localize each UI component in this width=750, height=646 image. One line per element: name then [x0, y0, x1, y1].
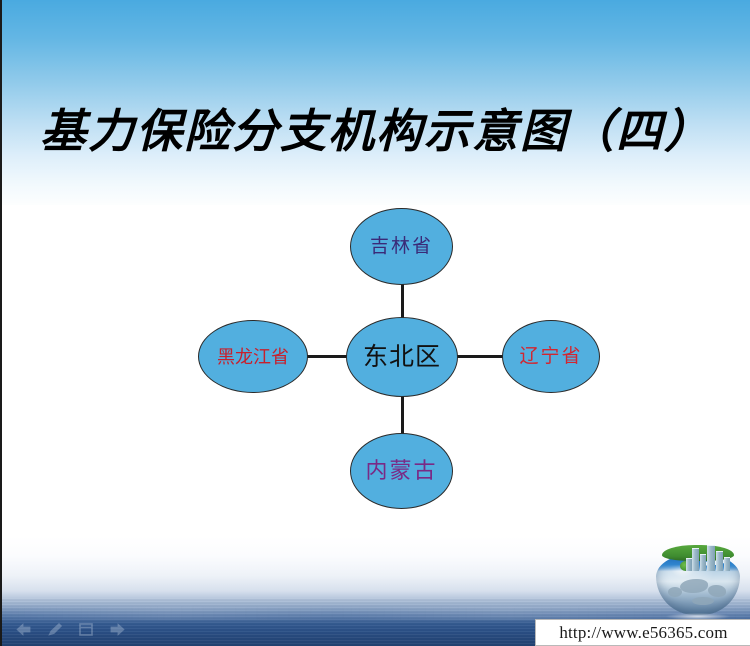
node-neimenggu-label: 内蒙古: [365, 460, 437, 482]
website-url-box[interactable]: http://www.e56365.com: [535, 619, 750, 646]
building-icon: [692, 548, 699, 571]
forward-arrow-icon[interactable]: [108, 622, 126, 637]
node-jilin[interactable]: 吉林省: [350, 208, 453, 285]
earth-city-globe-logo: [650, 527, 746, 619]
node-liaoning-label: 辽宁省: [519, 347, 582, 366]
node-dongbei-region-label: 东北区: [363, 345, 441, 370]
page-icon[interactable]: [77, 622, 95, 637]
slide-canvas: 基力保险分支机构示意图（四） 吉林省 黑龙江省 东北区 辽宁省 内蒙古: [0, 0, 750, 646]
node-heilongjiang[interactable]: 黑龙江省: [198, 320, 308, 393]
node-jilin-label: 吉林省: [370, 237, 433, 256]
building-icon: [724, 557, 730, 571]
org-structure-diagram: 吉林省 黑龙江省 东北区 辽宁省 内蒙古: [2, 0, 750, 646]
building-icon: [716, 551, 723, 571]
website-url-text: http://www.e56365.com: [559, 623, 727, 643]
globe-landmass-icon: [668, 587, 682, 597]
node-liaoning[interactable]: 辽宁省: [502, 320, 600, 393]
back-arrow-icon[interactable]: [15, 622, 33, 637]
slideshow-nav-toolbar[interactable]: [15, 622, 126, 637]
building-icon: [700, 554, 706, 571]
globe-grass-icon: [662, 545, 734, 561]
globe-landmass-icon: [692, 597, 714, 605]
node-heilongjiang-label: 黑龙江省: [217, 348, 289, 366]
globe-landmass-icon: [708, 585, 726, 597]
node-dongbei-region[interactable]: 东北区: [346, 317, 458, 397]
node-neimenggu[interactable]: 内蒙古: [350, 433, 453, 509]
pen-icon[interactable]: [46, 622, 64, 637]
edge-center-to-right: [450, 355, 510, 358]
building-icon: [707, 545, 715, 571]
globe-landmass-icon: [680, 579, 708, 593]
